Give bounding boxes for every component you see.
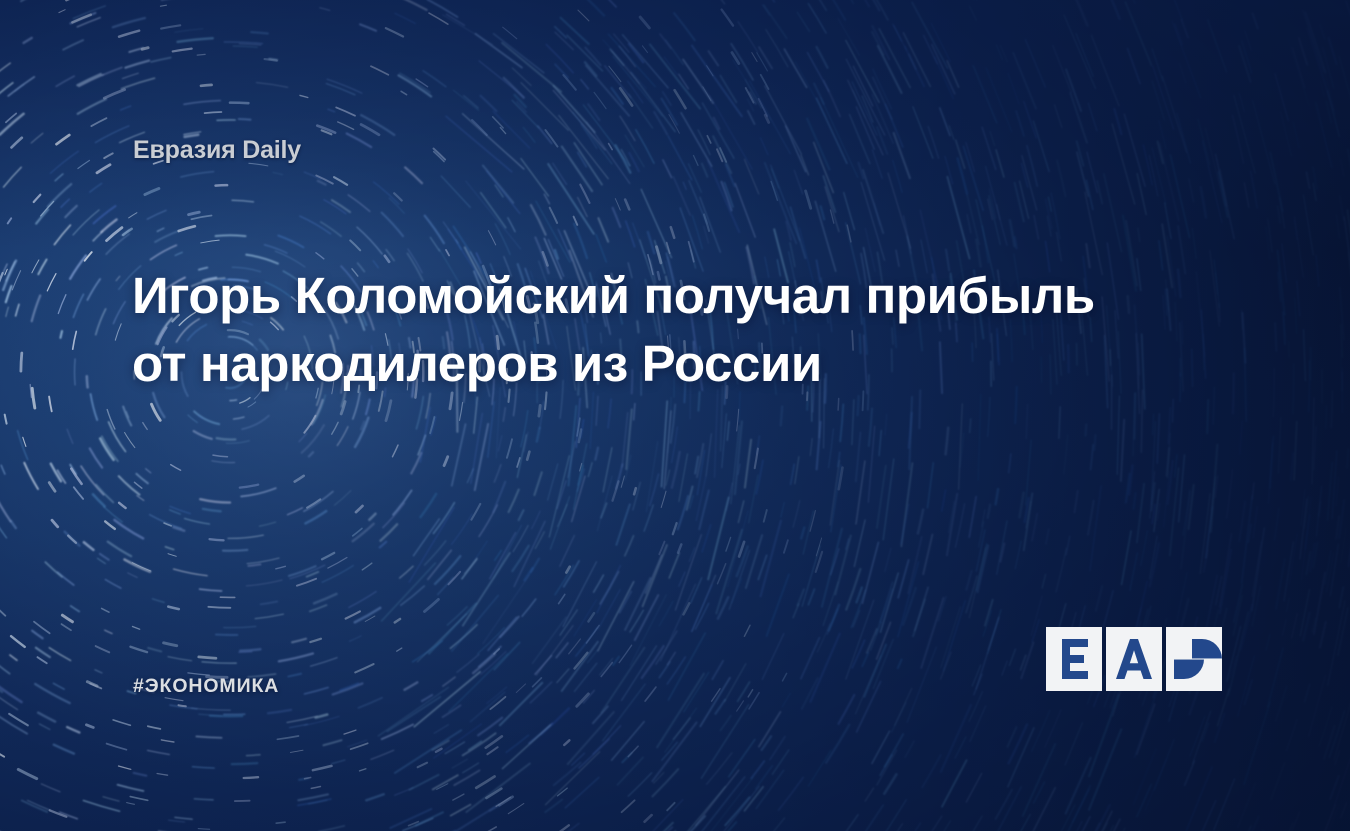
brand-wordmark: Евразия Daily bbox=[133, 136, 301, 165]
rubric-hashtag: #ЭКОНОМИКА bbox=[133, 675, 279, 698]
social-share-card: Евразия Daily Игорь Коломойский получал … bbox=[0, 0, 1350, 831]
card-content: Евразия Daily Игорь Коломойский получал … bbox=[0, 0, 1350, 831]
headline: Игорь Коломойский получал прибыль от нар… bbox=[132, 262, 1202, 399]
logo-tile-e bbox=[1046, 627, 1102, 691]
headline-line-2: от наркодилеров из России bbox=[132, 330, 1202, 398]
logo-tile-a bbox=[1106, 627, 1162, 691]
headline-line-1: Игорь Коломойский получал прибыль bbox=[132, 262, 1202, 330]
eadaily-logo bbox=[1046, 627, 1222, 691]
logo-tile-d bbox=[1166, 627, 1222, 691]
